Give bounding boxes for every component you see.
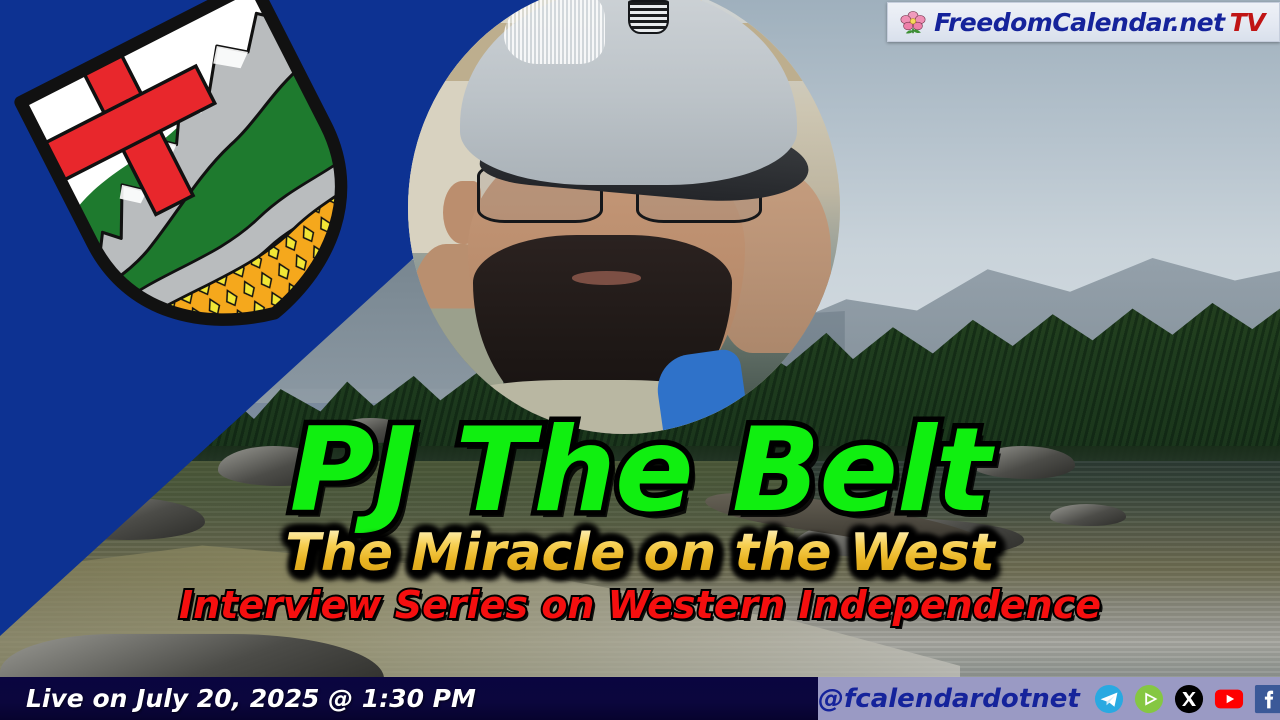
social-handle: @fcalendardotnet bbox=[818, 684, 1080, 714]
bottom-bar: Live on July 20, 2025 @ 1:30 PM @fcalend… bbox=[0, 677, 1280, 720]
title-block: PJ The Belt The Miracle on the West Inte… bbox=[0, 418, 1280, 624]
subtitle: The Miracle on the West bbox=[0, 527, 1280, 580]
rumble-icon[interactable] bbox=[1134, 684, 1164, 714]
brand-logo-bar[interactable]: FreedomCalendar.netTV bbox=[887, 2, 1280, 42]
trucker-cap bbox=[460, 0, 797, 185]
cap-alberta-shield-icon bbox=[628, 0, 669, 34]
social-band: @fcalendardotnet bbox=[818, 677, 1280, 720]
live-schedule-band: Live on July 20, 2025 @ 1:30 PM bbox=[0, 677, 818, 720]
mouth bbox=[572, 271, 641, 285]
telegram-icon[interactable] bbox=[1094, 684, 1124, 714]
x-icon[interactable] bbox=[1174, 684, 1204, 714]
live-schedule-text: Live on July 20, 2025 @ 1:30 PM bbox=[26, 684, 476, 713]
brand-logo-tv: TV bbox=[1230, 8, 1265, 37]
series-title: Interview Series on Western Independence bbox=[0, 586, 1280, 624]
main-title: PJ The Belt bbox=[0, 418, 1280, 525]
brand-logo-name: FreedomCalendar.net bbox=[934, 8, 1224, 37]
guest-portrait: Man wearing a grey trucker cap with Albe… bbox=[408, 0, 840, 434]
youtube-icon[interactable] bbox=[1214, 684, 1244, 714]
facebook-icon[interactable] bbox=[1254, 684, 1280, 714]
thumbnail-canvas: Hazy mountain range above a coniferous f… bbox=[0, 0, 1280, 720]
cap-mesh-panel bbox=[504, 0, 605, 64]
wild-rose-icon bbox=[900, 10, 926, 34]
brand-logo-text: FreedomCalendar.netTV bbox=[934, 8, 1265, 37]
